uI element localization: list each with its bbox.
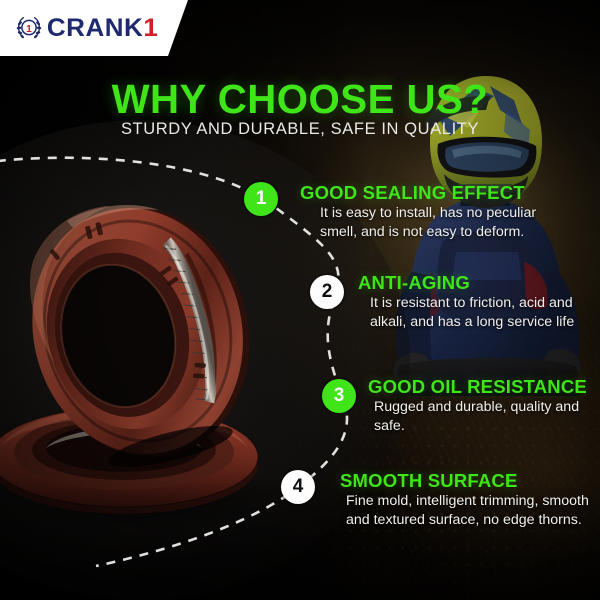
product-image-oil-seals <box>0 176 292 528</box>
feature-item-3: GOOD OIL RESISTANCE Rugged and durable, … <box>368 376 600 436</box>
brand-logo-banner[interactable]: 1 CRANK1 <box>0 0 188 56</box>
brand-suffix-text: 1 <box>143 14 158 42</box>
feature-title-3: GOOD OIL RESISTANCE <box>368 376 600 398</box>
brand-name-text: CRANK <box>47 14 143 42</box>
wreath-number: 1 <box>26 24 32 35</box>
feature-item-2: ANTI-AGING It is resistant to friction, … <box>358 272 600 332</box>
feature-desc-1: It is easy to install, has no peculiar s… <box>300 204 550 242</box>
feature-title-4: SMOOTH SURFACE <box>340 470 600 492</box>
feature-desc-3: Rugged and durable, quality and safe. <box>368 398 600 436</box>
brand-wordmark: CRANK1 <box>47 16 158 41</box>
feature-badge-1[interactable]: 1 <box>244 182 278 216</box>
feature-item-4: SMOOTH SURFACE Fine mold, intelligent tr… <box>340 470 600 530</box>
page-title: WHY CHOOSE US? <box>6 76 594 123</box>
feature-title-1: GOOD SEALING EFFECT <box>300 182 550 204</box>
feature-desc-4: Fine mold, intelligent trimming, smooth … <box>340 492 600 530</box>
feature-title-2: ANTI-AGING <box>358 272 600 294</box>
feature-badge-3[interactable]: 3 <box>322 379 356 413</box>
feature-desc-2: It is resistant to friction, acid and al… <box>358 294 600 332</box>
promo-poster: 1 CRANK1 WHY CHOOSE US? STURDY AND DURAB… <box>0 0 600 600</box>
page-subtitle: STURDY AND DURABLE, SAFE IN QUALITY <box>0 120 600 139</box>
feature-badge-4[interactable]: 4 <box>281 470 315 504</box>
feature-item-1: GOOD SEALING EFFECT It is easy to instal… <box>300 182 550 242</box>
laurel-wreath-icon: 1 <box>14 13 44 43</box>
feature-badge-2[interactable]: 2 <box>310 275 344 309</box>
